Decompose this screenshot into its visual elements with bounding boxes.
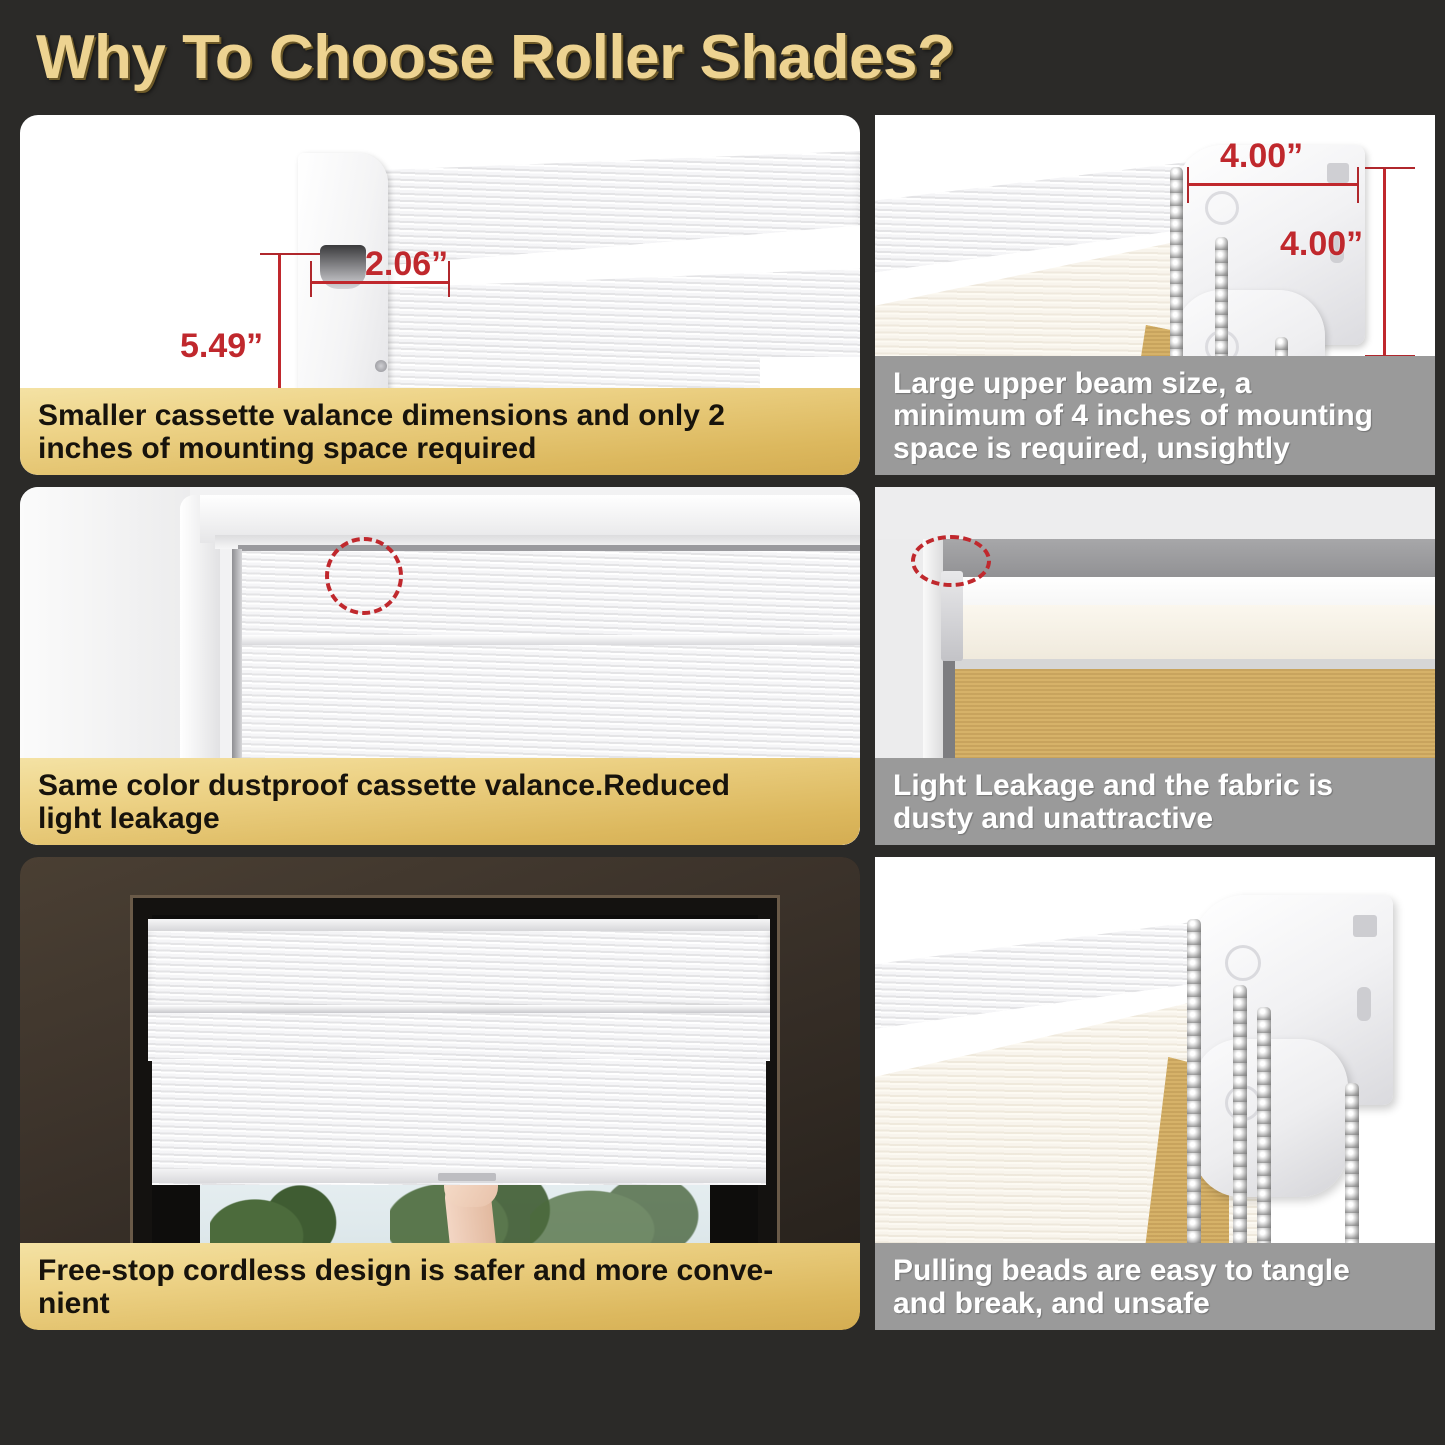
panel-pro-valance-size: 2.06” 5.49” Smaller cassette valance dim… xyxy=(20,115,860,475)
beam-height-tick-top xyxy=(1365,167,1415,169)
caption-line-1: Light Leakage and the fabric is xyxy=(893,770,1419,802)
caption-line-2: nient xyxy=(38,1288,844,1320)
caption-line-1: Pulling beads are easy to tangle xyxy=(893,1255,1419,1287)
beam-width-label: 4.00” xyxy=(1220,137,1303,176)
shade-fabric-body xyxy=(152,1059,766,1185)
caption-line-2: dusty and unattractive xyxy=(893,803,1419,835)
panel-con-light-leakage: Large gap Light Leakage and the fabric i… xyxy=(875,487,1435,845)
background-upper xyxy=(875,487,1435,539)
valance-bottom-edge xyxy=(953,659,1435,669)
caption-con-pulling-beads: Pulling beads are easy to tangle and bre… xyxy=(875,1243,1435,1330)
height-dimension-label: 5.49” xyxy=(180,327,263,366)
headrail-top xyxy=(148,919,770,931)
caption-line-1: Large upper beam size, a xyxy=(893,368,1419,400)
highlight-circle-gap xyxy=(325,537,403,615)
page-title: Why To Choose Roller Shades? xyxy=(36,22,954,93)
caption-line-2: and break, and unsafe xyxy=(893,1288,1419,1320)
width-dimension-label: 2.06” xyxy=(365,245,448,284)
beam-width-tick-left xyxy=(1187,167,1189,203)
valance-lower-roll xyxy=(148,1013,770,1061)
beam-height-dimension-line xyxy=(1383,167,1386,357)
caption-pro-cordless-design: Free-stop cordless design is safer and m… xyxy=(20,1243,860,1330)
caption-line-1: Free-stop cordless design is safer and m… xyxy=(38,1255,844,1287)
caption-line-2: inches of mounting space required xyxy=(38,433,844,465)
bracket-notch-1 xyxy=(1353,915,1377,937)
panel-con-pulling-beads: Pulling beads are easy to tangle and bre… xyxy=(875,857,1435,1330)
height-dimension-tick-top xyxy=(260,253,320,255)
caption-pro-valance-size: Smaller cassette valance dimensions and … xyxy=(20,388,860,475)
valance-face xyxy=(148,931,770,1009)
panel-pro-cordless-design: Free-stop cordless design is safer and m… xyxy=(20,857,860,1330)
valance-cream-face xyxy=(953,605,1435,667)
bracket-notch-2 xyxy=(1357,987,1371,1021)
width-dimension-tick-right xyxy=(448,261,450,297)
beam-height-label: 4.00” xyxy=(1280,225,1363,264)
caption-line-2: light leakage xyxy=(38,803,844,835)
end-cap-screw xyxy=(375,360,387,372)
panel-con-beam-size: 4.00” 4.00” Large upper beam size, a min… xyxy=(875,115,1435,475)
bracket-emblem-upper xyxy=(1225,945,1261,981)
caption-pro-dustproof-valance: Same color dustproof cassette valance.Re… xyxy=(20,758,860,845)
header-bar: Why To Choose Roller Shades? xyxy=(0,0,1445,112)
valance-lip xyxy=(148,1005,770,1013)
caption-line-1: Same color dustproof cassette valance.Re… xyxy=(38,770,844,802)
shade-pull-tab xyxy=(438,1173,496,1181)
caption-line-2: minimum of 4 inches of mounting xyxy=(893,400,1419,432)
bracket-emblem-upper xyxy=(1205,191,1239,225)
caption-con-light-leakage: Light Leakage and the fabric is dusty an… xyxy=(875,758,1435,845)
valance-lower-lip xyxy=(238,635,860,645)
beam-width-dimension-line xyxy=(1187,183,1359,186)
caption-line-3: space is required, unsightly xyxy=(893,433,1419,465)
highlight-circle-gap xyxy=(911,535,991,587)
beam-width-tick-right xyxy=(1357,167,1359,203)
width-dimension-tick-left xyxy=(310,261,312,297)
caption-con-beam-size: Large upper beam size, a minimum of 4 in… xyxy=(875,356,1435,475)
bracket-notch-1 xyxy=(1327,163,1349,183)
caption-line-1: Smaller cassette valance dimensions and … xyxy=(38,400,844,432)
panel-pro-dustproof-valance: smaller gap Same color dustproof cassett… xyxy=(20,487,860,845)
